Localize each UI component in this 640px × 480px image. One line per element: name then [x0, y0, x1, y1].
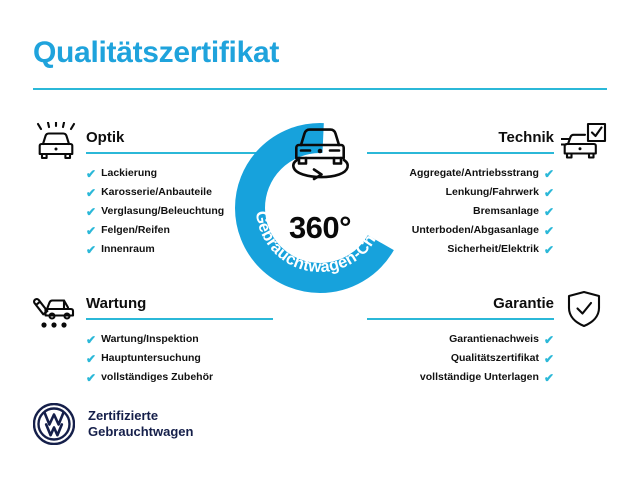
footer-text: Zertifizierte Gebrauchtwagen — [88, 408, 193, 440]
list-item-label: Bremsanlage — [473, 205, 539, 218]
badge-degrees: 360° — [232, 210, 408, 246]
list-item-label: Lenkung/Fahrwerk — [446, 186, 539, 199]
check-icon: ✔ — [86, 225, 96, 237]
section-wartung: Wartung ✔ Wartung/Inspektion ✔ Hauptunte… — [33, 294, 273, 384]
list-item: ✔ Wartung/Inspektion — [86, 333, 273, 346]
check-icon: ✔ — [544, 372, 554, 384]
list-item-label: Karosserie/Anbauteile — [101, 186, 212, 199]
section-garantie-items: ✔ Garantienachweis ✔ Qualitätszertifikat… — [367, 333, 554, 384]
check-icon: ✔ — [544, 353, 554, 365]
section-garantie: Garantie ✔ Garantienachweis ✔ Qualitätsz… — [367, 294, 607, 384]
vw-logo — [33, 403, 75, 445]
360-check-badge: Gebrauchtwagen-Check 360° — [232, 120, 408, 296]
list-item-label: Lackierung — [101, 167, 157, 180]
car-rotation-icon — [283, 118, 357, 184]
section-garantie-head: Garantie — [367, 294, 607, 324]
footer-line-1: Zertifizierte — [88, 408, 193, 424]
check-icon: ✔ — [544, 168, 554, 180]
check-icon: ✔ — [86, 372, 96, 384]
list-item: ✔ vollständige Unterlagen — [367, 371, 554, 384]
list-item-label: vollständiges Zubehör — [101, 371, 213, 384]
list-item-label: Verglasung/Beleuchtung — [101, 205, 224, 218]
check-icon: ✔ — [544, 334, 554, 346]
list-item: ✔ Garantienachweis — [367, 333, 554, 346]
list-item: ✔ vollständiges Zubehör — [86, 371, 273, 384]
list-item-label: Aggregate/Antriebsstrang — [409, 167, 539, 180]
check-icon: ✔ — [544, 244, 554, 256]
title-divider — [33, 88, 607, 90]
section-garantie-divider — [367, 318, 554, 320]
footer-brand: Zertifizierte Gebrauchtwagen — [33, 403, 193, 445]
footer-line-2: Gebrauchtwagen — [88, 424, 193, 440]
list-item-label: Sicherheit/Elektrik — [447, 243, 539, 256]
list-item-label: Hauptuntersuchung — [101, 352, 201, 365]
list-item-label: vollständige Unterlagen — [420, 371, 539, 384]
check-icon: ✔ — [544, 187, 554, 199]
check-icon: ✔ — [544, 206, 554, 218]
certificate-page: Qualitätszertifikat Op — [0, 0, 640, 480]
list-item-label: Innenraum — [101, 243, 155, 256]
section-wartung-title: Wartung — [86, 294, 273, 314]
check-icon: ✔ — [86, 353, 96, 365]
list-item: ✔ Hauptuntersuchung — [86, 352, 273, 365]
section-wartung-items: ✔ Wartung/Inspektion ✔ Hauptuntersuchung… — [86, 333, 273, 384]
section-garantie-title: Garantie — [367, 294, 554, 314]
list-item-label: Felgen/Reifen — [101, 224, 170, 237]
list-item-label: Wartung/Inspektion — [101, 333, 199, 346]
check-icon: ✔ — [86, 206, 96, 218]
check-icon: ✔ — [544, 225, 554, 237]
check-icon: ✔ — [86, 334, 96, 346]
page-title: Qualitätszertifikat — [33, 36, 279, 70]
section-wartung-head: Wartung — [33, 294, 273, 324]
list-item-label: Unterboden/Abgasanlage — [412, 224, 539, 237]
check-icon: ✔ — [86, 168, 96, 180]
check-icon: ✔ — [86, 244, 96, 256]
list-item: ✔ Qualitätszertifikat — [367, 352, 554, 365]
list-item-label: Garantienachweis — [449, 333, 539, 346]
list-item-label: Qualitätszertifikat — [451, 352, 539, 365]
check-icon: ✔ — [86, 187, 96, 199]
section-wartung-divider — [86, 318, 273, 320]
